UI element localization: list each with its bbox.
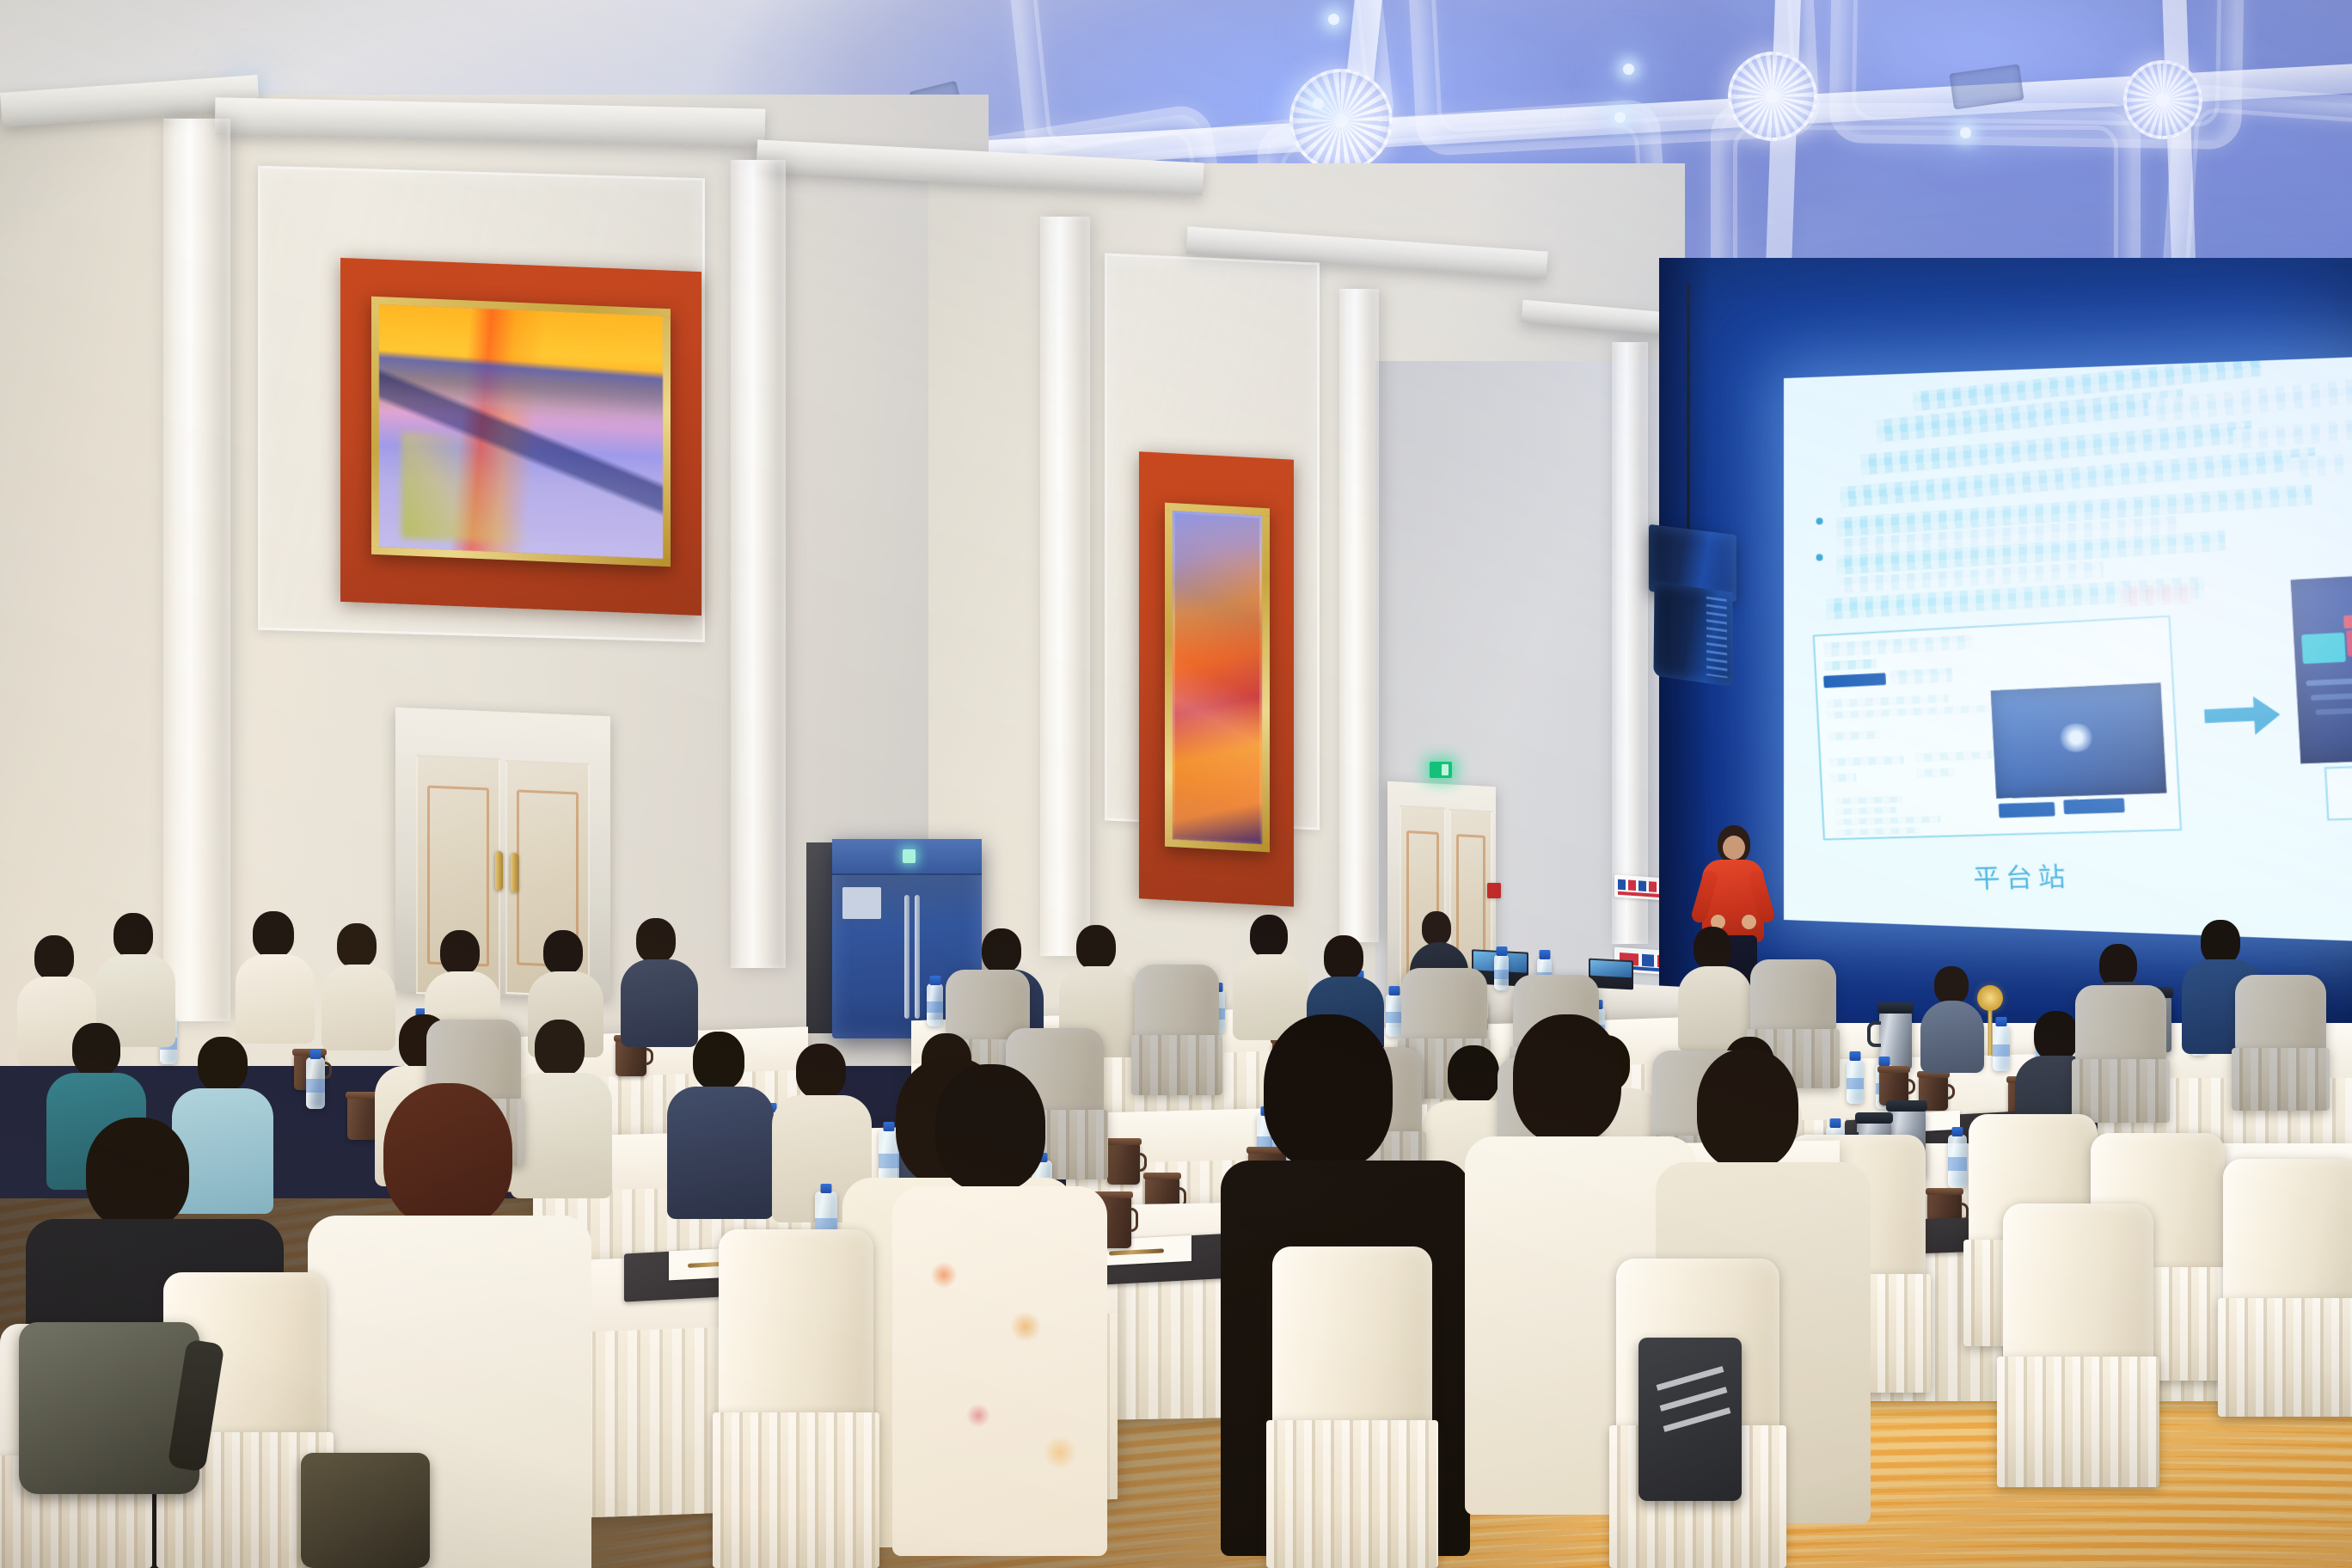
backpack bbox=[19, 1322, 199, 1494]
water-bottle[interactable] bbox=[1494, 954, 1509, 990]
recessed-downlight bbox=[1313, 98, 1324, 109]
slide-bullet bbox=[1816, 554, 1823, 560]
banquet-chair[interactable] bbox=[2003, 1204, 2153, 1487]
banquet-chair[interactable] bbox=[2075, 985, 2166, 1123]
abstract-landscape-painting bbox=[371, 297, 671, 567]
abstract-vertical-painting bbox=[1165, 503, 1270, 853]
banquet-chair[interactable] bbox=[2223, 1159, 2352, 1417]
conference-hall-photo: 平台站 bbox=[0, 0, 2352, 1568]
recessed-downlight bbox=[1328, 14, 1339, 25]
slide-badge-cyan bbox=[2301, 633, 2346, 665]
wall-fire-call-point[interactable] bbox=[1487, 883, 1501, 898]
water-bottle[interactable] bbox=[306, 1057, 325, 1109]
banquet-chair[interactable] bbox=[2235, 975, 2326, 1111]
wall-pilaster bbox=[731, 160, 786, 968]
slide-arrow-icon bbox=[2253, 695, 2282, 735]
handbag bbox=[301, 1453, 430, 1568]
water-bottle[interactable] bbox=[927, 983, 943, 1026]
water-bottle[interactable] bbox=[1948, 1135, 1967, 1188]
exit-sign bbox=[1430, 762, 1452, 778]
recessed-downlight bbox=[1614, 112, 1626, 123]
slide-arrow-icon bbox=[2204, 707, 2257, 723]
slide-bullet bbox=[1816, 518, 1823, 524]
slide-action-chip-2[interactable] bbox=[2063, 798, 2124, 814]
fridge-label bbox=[842, 887, 881, 919]
door-handle[interactable] bbox=[511, 853, 518, 892]
banquet-chair[interactable] bbox=[1272, 1246, 1432, 1568]
ceiling-rosette bbox=[1728, 52, 1817, 141]
wall-pilaster bbox=[1612, 342, 1648, 944]
slide-badge-magenta bbox=[2346, 626, 2352, 656]
slide-card-right bbox=[2291, 572, 2352, 763]
wall-pilaster bbox=[1339, 289, 1379, 942]
slide-action-chip-1[interactable] bbox=[1999, 802, 2055, 818]
wall-pilaster bbox=[1040, 217, 1090, 956]
water-bottle[interactable] bbox=[1386, 994, 1402, 1037]
banquet-chair[interactable] bbox=[1135, 965, 1219, 1095]
slide-caption: 平台站 bbox=[1972, 854, 2072, 896]
slide-card-right-footer bbox=[2324, 763, 2352, 821]
water-bottle[interactable] bbox=[1847, 1059, 1864, 1104]
door-handle[interactable] bbox=[495, 851, 503, 891]
ceiling-rosette bbox=[1289, 69, 1393, 172]
slide-photo-thumbnail bbox=[1991, 683, 2167, 799]
slide-tag-chip bbox=[1823, 673, 1886, 689]
slide-badge-red bbox=[2343, 613, 2352, 628]
lidded-tea-cup[interactable] bbox=[1107, 1143, 1140, 1185]
presenter-hand bbox=[1742, 915, 1756, 929]
ceiling-rosette bbox=[2123, 60, 2202, 139]
slide-card-left bbox=[1813, 616, 2182, 841]
fridge-handle[interactable] bbox=[904, 895, 910, 1019]
recessed-downlight bbox=[1960, 127, 1971, 138]
banquet-chair[interactable] bbox=[719, 1229, 873, 1568]
projection-screen: 平台站 bbox=[1784, 356, 2352, 942]
wall-pilaster bbox=[163, 119, 230, 1021]
fridge-display bbox=[903, 849, 916, 863]
fridge-handle[interactable] bbox=[915, 895, 920, 1019]
recessed-downlight bbox=[1623, 64, 1634, 75]
